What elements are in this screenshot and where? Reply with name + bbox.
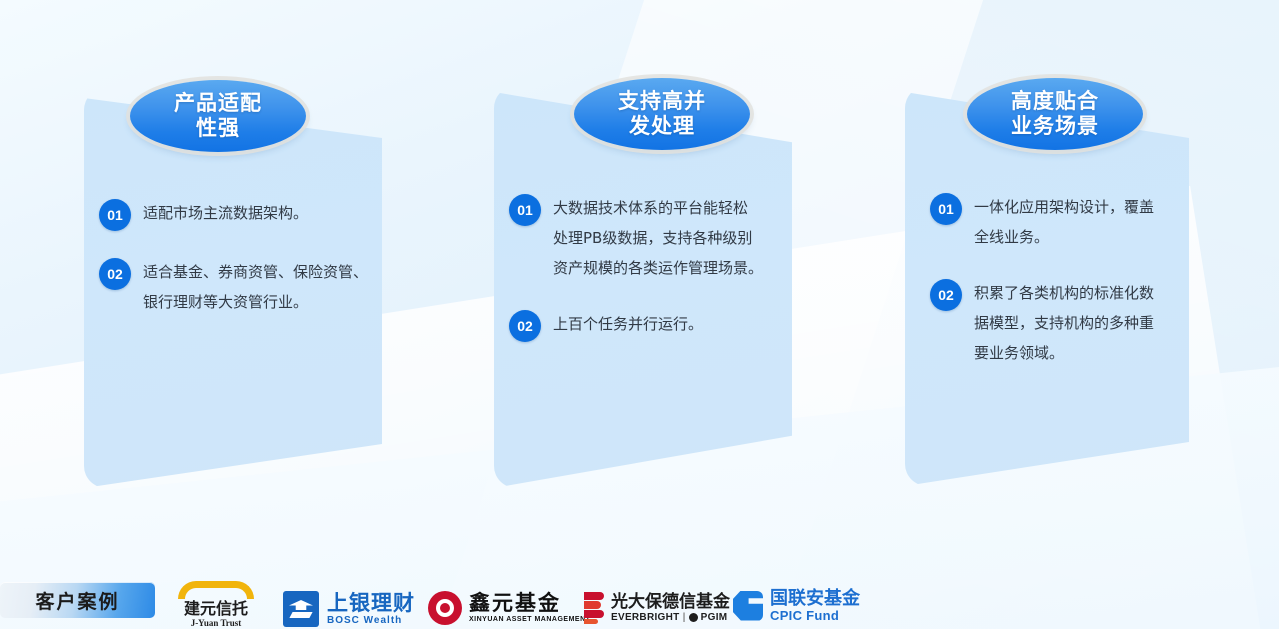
card-3-badge-line-1: 高度贴合: [1011, 89, 1099, 114]
customer-cases-tab-label: 客户案例: [35, 587, 119, 614]
everbright-bars-icon: [584, 592, 604, 624]
card-3-bullet-2-number: 02: [930, 279, 962, 311]
card-2-badge-line-1: 支持高并: [618, 89, 706, 114]
card-3-bullet-1-number: 01: [930, 193, 962, 225]
card-3-badge-line-2: 业务场景: [1011, 114, 1099, 139]
pgim-globe-icon: [689, 613, 698, 622]
card-1-bullet-1: 01 适配市场主流数据架构。: [99, 198, 399, 231]
card-2-bullet-1: 01 大数据技术体系的平台能轻松 处理PB级数据，支持各种级别 资产规模的各类运…: [509, 193, 809, 283]
logo-jyuan-trust[interactable]: 建元信托 J-Yuan Trust: [178, 581, 254, 629]
card-2-bullet-1-text: 大数据技术体系的平台能轻松 处理PB级数据，支持各种级别 资产规模的各类运作管理…: [553, 193, 763, 283]
card-1-bullet-1-number: 01: [99, 199, 131, 231]
card-2-bullet-2: 02 上百个任务并行运行。: [509, 309, 809, 342]
logo-xinyuan-fund-en: XINYUAN ASSET MANAGEMENT: [469, 615, 590, 625]
xinyuan-flower-icon: [428, 591, 462, 625]
logo-cpic-fund-en: CPIC Fund: [770, 608, 860, 623]
card-1-bullet-2-number: 02: [99, 258, 131, 290]
card-2-bullet-1-number: 01: [509, 194, 541, 226]
card-2-bullet-2-number: 02: [509, 310, 541, 342]
feature-card-3: 高度贴合 业务场景 01 一体化应用架构设计，覆盖 全线业务。 02 积累了各类…: [905, 86, 1189, 486]
card-2-badge: 支持高并 发处理: [574, 78, 750, 150]
logo-cpic-fund[interactable]: 国联安基金 CPIC Fund: [733, 588, 860, 623]
card-1-badge: 产品适配 性强: [130, 80, 306, 152]
card-2-bullets: 01 大数据技术体系的平台能轻松 处理PB级数据，支持各种级别 资产规模的各类运…: [509, 193, 809, 342]
logo-jyuan-trust-en: J-Yuan Trust: [191, 618, 242, 629]
logo-xinyuan-fund-cn: 鑫元基金: [469, 592, 590, 615]
logo-bosc-wealth[interactable]: 上银理财 BOSC Wealth: [283, 591, 415, 627]
logo-everbright-pgim-cn: 光大保德信基金: [611, 592, 730, 611]
feature-card-1: 产品适配 性强 01 适配市场主流数据架构。 02 适合基金、券商资管、保险资管…: [84, 88, 382, 488]
logo-xinyuan-fund-text: 鑫元基金 XINYUAN ASSET MANAGEMENT: [469, 592, 590, 625]
card-3-bullet-1-text: 一体化应用架构设计，覆盖 全线业务。: [974, 192, 1154, 252]
logo-separator-icon: |: [683, 611, 686, 624]
card-2-bullet-2-text: 上百个任务并行运行。: [553, 309, 703, 339]
slide-canvas: 产品适配 性强 01 适配市场主流数据架构。 02 适合基金、券商资管、保险资管…: [0, 0, 1279, 629]
logo-cpic-fund-cn: 国联安基金: [770, 588, 860, 608]
cpic-g-icon: [733, 591, 763, 621]
logo-everbright-en: EVERBRIGHT: [611, 611, 680, 624]
logo-bosc-wealth-cn: 上银理财: [327, 592, 415, 615]
logo-everbright-pgim-en-row: EVERBRIGHT | PGIM: [611, 611, 730, 624]
card-1-bullet-2: 02 适合基金、券商资管、保险资管、 银行理财等大资管行业。: [99, 257, 399, 317]
card-3-bullet-2-text: 积累了各类机构的标准化数 据模型，支持机构的多种重 要业务领域。: [974, 278, 1154, 368]
card-1-bullets: 01 适配市场主流数据架构。 02 适合基金、券商资管、保险资管、 银行理财等大…: [99, 198, 399, 317]
customer-cases-tab[interactable]: 客户案例: [0, 582, 155, 618]
logo-everbright-pgim-text: 光大保德信基金 EVERBRIGHT | PGIM: [611, 592, 730, 624]
card-1-bullet-1-text: 适配市场主流数据架构。: [143, 198, 308, 228]
logo-jyuan-trust-cn: 建元信托: [184, 601, 248, 618]
feature-card-2: 支持高并 发处理 01 大数据技术体系的平台能轻松 处理PB级数据，支持各种级别…: [494, 86, 792, 488]
footer-logo-strip: 客户案例 建元信托 J-Yuan Trust 上银理财 BOSC Wealth …: [0, 580, 1279, 629]
card-2-badge-line-2: 发处理: [629, 114, 695, 139]
card-3-bullet-2: 02 积累了各类机构的标准化数 据模型，支持机构的多种重 要业务领域。: [930, 278, 1220, 368]
logo-pgim-en: PGIM: [701, 611, 728, 624]
jyuan-arc-icon: [178, 581, 254, 599]
logo-bosc-wealth-en: BOSC Wealth: [327, 615, 415, 627]
card-1-bullet-2-text: 适合基金、券商资管、保险资管、 银行理财等大资管行业。: [143, 257, 368, 317]
logo-everbright-pgim[interactable]: 光大保德信基金 EVERBRIGHT | PGIM: [584, 592, 730, 624]
card-1-badge-line-2: 性强: [196, 116, 240, 141]
bosc-arrow-icon: [283, 591, 319, 627]
logo-bosc-wealth-text: 上银理财 BOSC Wealth: [327, 592, 415, 627]
logo-cpic-fund-text: 国联安基金 CPIC Fund: [770, 588, 860, 623]
card-3-bullets: 01 一体化应用架构设计，覆盖 全线业务。 02 积累了各类机构的标准化数 据模…: [930, 192, 1220, 368]
logo-xinyuan-fund[interactable]: 鑫元基金 XINYUAN ASSET MANAGEMENT: [428, 591, 590, 625]
card-3-bullet-1: 01 一体化应用架构设计，覆盖 全线业务。: [930, 192, 1220, 252]
card-1-badge-line-1: 产品适配: [174, 91, 262, 116]
card-3-badge: 高度贴合 业务场景: [967, 78, 1143, 150]
